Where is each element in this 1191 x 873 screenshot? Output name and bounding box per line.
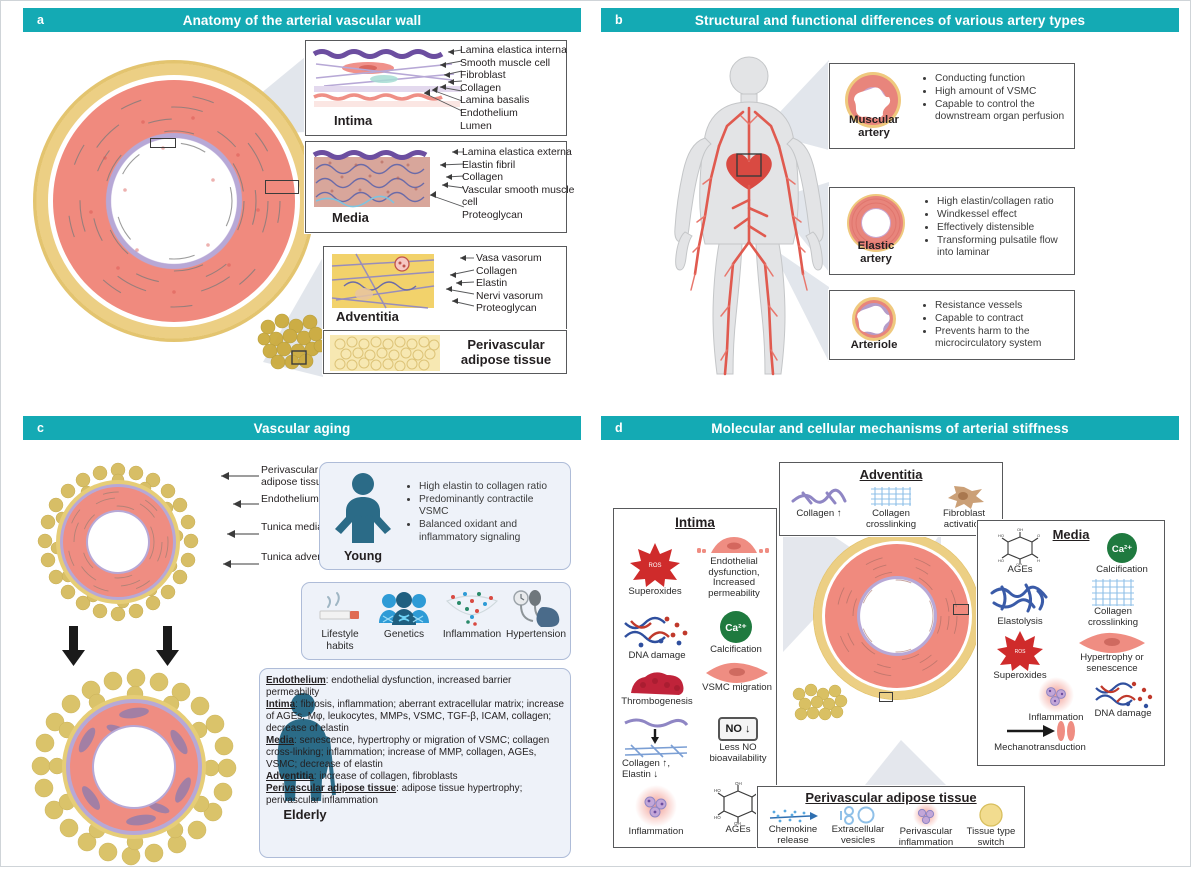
- pvat-title-line1: Perivascular: [450, 337, 562, 352]
- inflammation-icon: [1032, 677, 1080, 713]
- svg-text:Ca²⁺: Ca²⁺: [1112, 544, 1132, 555]
- adventitia-label-4: Proteoglycan: [476, 303, 543, 316]
- calcium-icon: Ca²⁺: [1105, 531, 1139, 565]
- elastic-artery-bullets: High elastin/collagen ratio Windkessel e…: [924, 196, 1072, 260]
- young-bullet-1: Predominantly contractile VSMC: [419, 494, 562, 519]
- d-intima-no: NO ↓ Less NO bioavailability: [700, 717, 776, 764]
- ros-burst-icon: ROS: [630, 541, 680, 587]
- d-pvat-cap-3-l1: Tissue type: [960, 827, 1022, 838]
- factor-hypertension-label: Hypertension: [504, 629, 568, 641]
- aging-arrows: [41, 626, 211, 670]
- panel-c-body: Perivascular adipose tissue Endothelium …: [23, 440, 581, 859]
- elastin-fibers: [33, 60, 315, 342]
- elastic-artery-name-line1: Elastic: [830, 240, 922, 253]
- factor-genetics: Genetics: [372, 589, 436, 641]
- elderly-entry-1: Intima: fibrosis, inflammation; aberrant…: [266, 699, 566, 735]
- dna-damage-icon: [621, 613, 693, 651]
- d-media-superoxides: ROS Superoxides: [980, 629, 1060, 682]
- svg-text:HO: HO: [998, 533, 1004, 538]
- adventitia-illustration: [330, 252, 436, 310]
- svg-text:HO: HO: [714, 815, 721, 820]
- blood-pressure-cuff-icon: [507, 589, 565, 629]
- adventitia-label-3: Nervi vasorum: [476, 291, 543, 304]
- d-media-cap-5: Hypertrophy or senescence: [1066, 653, 1158, 674]
- d-media-crosslinking: Collagen crosslinking: [1070, 577, 1156, 628]
- d-pvat-cap-1-l1: Extracellular: [826, 825, 890, 836]
- d-media-dna: DNA damage: [1082, 679, 1164, 720]
- panel-d-title: Molecular and cellular mechanisms of art…: [601, 421, 1179, 436]
- elderly-entry-3: Adventitia: increase of collagen, fibrob…: [266, 771, 566, 783]
- media-zoom-marker: [265, 180, 299, 194]
- elastic-bullet-3: Transforming pulsatile flow into laminar: [937, 235, 1072, 260]
- panel-b-letter: b: [615, 13, 623, 27]
- young-info-box: Young High elastin to collagen ratio Pre…: [319, 462, 571, 570]
- svg-text:OH: OH: [735, 781, 742, 786]
- adventitia-label-1: Collagen: [476, 266, 543, 279]
- elderly-info-box: Elderly Endothelium: endothelial dysfunc…: [259, 668, 571, 858]
- inflammation-dots-icon: [441, 589, 503, 629]
- elderly-term-4: Perivascular adipose tissue: [266, 783, 396, 794]
- intima-box-title: Intima: [334, 113, 372, 128]
- no-down-icon: NO ↓: [718, 717, 758, 741]
- intima-label-6: Lumen: [460, 121, 567, 134]
- svg-text:ROS: ROS: [1015, 649, 1027, 655]
- adventitia-leader-lines: [434, 253, 474, 323]
- elderly-artery-ring: [31, 668, 241, 868]
- pvat-mechanisms-box: Perivascular adipose tissue Chemokine re…: [757, 786, 1025, 848]
- ros-burst-icon: ROS: [997, 629, 1043, 671]
- d-intima-collagen-elastin: Collagen ↑, Elastin ↓: [614, 715, 698, 780]
- panel-c-letter: c: [37, 421, 44, 435]
- factor-inflammation-label: Inflammation: [438, 629, 506, 641]
- young-artery-svg: [37, 462, 199, 624]
- muscular-bullet-2: Capable to control the downstream organ …: [935, 99, 1070, 124]
- vsmc-icon: [704, 661, 770, 683]
- panel-d: d Molecular and cellular mechanisms of a…: [601, 416, 1179, 859]
- intima-label-3: Collagen: [460, 83, 567, 96]
- d-adventitia-title: Adventitia: [780, 467, 1002, 482]
- d-pvat-chemokine: Chemokine release: [762, 807, 824, 846]
- d-intima-cap-4: Thrombogenesis: [614, 697, 700, 708]
- panel-b-header: b Structural and functional differences …: [601, 8, 1179, 32]
- d-media-hypertrophy: Hypertrophy or senescence: [1066, 631, 1158, 674]
- arteriole-bullet-1: Capable to contract: [935, 313, 1070, 325]
- d-intima-cap-7: Less NO bioavailability: [700, 743, 776, 764]
- svg-text:O: O: [1037, 533, 1040, 538]
- young-artery-ring: [37, 462, 199, 624]
- figure-root: a Anatomy of the arterial vascular wall: [0, 0, 1191, 867]
- d-pvat-inflammation: Perivascular inflammation: [892, 803, 960, 848]
- factor-hypertension: Hypertension: [504, 589, 568, 641]
- panel-d-body: Intima ROS Superoxides: [601, 440, 1179, 859]
- elderly-text-1: fibrosis, inflammation; aberrant extrace…: [266, 699, 564, 734]
- d-media-calcification: Ca²⁺ Calcification: [1082, 531, 1162, 576]
- fibroblast-icon: [939, 483, 989, 509]
- adventitia-callout-box: Adventitia Vasa vasorum Collagen Elastin: [323, 246, 567, 330]
- adventitia-box-title: Adventitia: [336, 309, 399, 324]
- panel-a-header: a Anatomy of the arterial vascular wall: [23, 8, 581, 32]
- inflammation-icon: [904, 803, 948, 827]
- d-pvat-cap-0-l1: Chemokine: [762, 825, 824, 836]
- adventitia-label-0: Vasa vasorum: [476, 253, 543, 266]
- media-box-title: Media: [332, 210, 369, 225]
- young-bullet-0: High elastin to collagen ratio: [419, 481, 562, 493]
- elastic-bullet-0: High elastin/collagen ratio: [937, 196, 1072, 208]
- muscular-bullet-1: High amount of VSMC: [935, 86, 1070, 98]
- factor-inflammation: Inflammation: [438, 589, 506, 641]
- d-media-cap-0: AGEs: [982, 565, 1058, 576]
- collagen-mesh-icon: [1088, 577, 1138, 607]
- media-label-0: Lamina elastica externa: [462, 147, 574, 160]
- elastic-bullet-1: Windkessel effect: [937, 209, 1072, 221]
- panel-d-letter: d: [615, 421, 623, 435]
- intima-label-0: Lamina elastica interna: [460, 45, 567, 58]
- d-media-mechano: Mechanotransduction: [978, 719, 1102, 754]
- intima-label-2: Fibroblast: [460, 70, 567, 83]
- human-body-arterial-tree: [649, 50, 849, 380]
- elderly-artery-svg: [31, 668, 241, 868]
- no-down-badge: NO ↓: [725, 723, 750, 735]
- elastic-artery-name-line2: artery: [830, 253, 922, 266]
- panel-d-header: d Molecular and cellular mechanisms of a…: [601, 416, 1179, 440]
- elderly-term-3: Adventitia: [266, 771, 314, 782]
- d-intima-cap-0: Superoxides: [618, 587, 692, 598]
- thrombus-icon: [625, 669, 689, 697]
- d-intima-title: Intima: [614, 515, 776, 530]
- d-media-cap-2: Elastolysis: [980, 617, 1060, 628]
- intima-label-5: Endothelium: [460, 108, 567, 121]
- arteriole-box: Arteriole Resistance vessels Capable to …: [829, 290, 1075, 360]
- elderly-text-3: increase of collagen, fibroblasts: [319, 771, 457, 782]
- media-label-3: Vascular smooth muscle: [462, 185, 574, 198]
- d-intima-cap-3: Calcification: [698, 645, 774, 656]
- d-pvat-vesicles: Extracellular vesicles: [826, 805, 890, 846]
- media-label-5: Proteoglycan: [462, 210, 574, 223]
- muscular-bullet-0: Conducting function: [935, 73, 1070, 85]
- elastic-artery-box: Elastic artery High elastin/collagen rat…: [829, 187, 1075, 275]
- elderly-entries: Endothelium: endothelial dysfunction, in…: [266, 675, 566, 807]
- young-label: Young: [326, 549, 400, 563]
- d-adv-crosslinking: Collagen crosslinking: [856, 485, 926, 530]
- d-pvat-zoom-marker: [879, 692, 893, 702]
- muscular-artery-bullets: Conducting function High amount of VSMC …: [922, 73, 1070, 124]
- panel-b-title: Structural and functional differences of…: [601, 13, 1179, 28]
- d-intima-dna: DNA damage: [616, 613, 698, 662]
- panel-b: b Structural and functional differences …: [601, 8, 1179, 402]
- panel-a-letter: a: [37, 13, 44, 27]
- d-adv-cap-0: Collagen ↑: [784, 509, 854, 520]
- pvat-box-title: Perivascular adipose tissue: [450, 337, 562, 367]
- d-pvat-cap-2-l2: inflammation: [892, 838, 960, 849]
- arteriole-bullet-0: Resistance vessels: [935, 300, 1070, 312]
- elastic-bullet-2: Effectively distensible: [937, 222, 1072, 234]
- svg-text:Ca²⁺: Ca²⁺: [725, 623, 746, 634]
- adventitia-label-2: Elastin: [476, 278, 543, 291]
- elderly-term-2: Media: [266, 735, 294, 746]
- people-dna-icon: [375, 589, 433, 629]
- chemokine-icon: [766, 807, 820, 825]
- panel-b-body: Muscular artery Conducting function High…: [601, 32, 1179, 402]
- panel-a-body: Intima Lamina elastica interna: [23, 32, 581, 402]
- svg-text:ROS: ROS: [648, 563, 661, 569]
- d-intima-cap-5: VSMC migration: [698, 683, 776, 694]
- d-pvat-cap-3-l2: switch: [960, 838, 1022, 849]
- svg-text:HO: HO: [714, 788, 721, 793]
- panel-a: a Anatomy of the arterial vascular wall: [23, 8, 581, 402]
- adventitia-mechanisms-box: Adventitia Collagen ↑: [779, 462, 1003, 536]
- elderly-text-2: senescence, hypertrophy or migration of …: [266, 735, 549, 770]
- elastic-artery-name: Elastic artery: [830, 240, 922, 266]
- adventitia-labels: Vasa vasorum Collagen Elastin Nervi vaso…: [476, 253, 543, 316]
- muscular-artery-name-line2: artery: [830, 127, 918, 140]
- arteriole-name-line1: Arteriole: [830, 339, 918, 352]
- d-media-cap-1: Calcification: [1082, 565, 1162, 576]
- d-intima-inflammation: Inflammation: [614, 785, 698, 838]
- media-leader-lines: [420, 147, 464, 227]
- collagen-fiber-icon: [789, 487, 849, 509]
- d-adv-collagen: Collagen ↑: [784, 487, 854, 520]
- calcium-icon: Ca²⁺: [718, 609, 754, 645]
- factor-lifestyle-label: Lifestyle habits: [308, 629, 372, 652]
- d-intima-vsmc: VSMC migration: [698, 661, 776, 694]
- arteriole-name: Arteriole: [830, 339, 918, 352]
- panel-c-header: c Vascular aging: [23, 416, 581, 440]
- d-pvat-cap-2-l1: Perivascular: [892, 827, 960, 838]
- inflammation-icon: [629, 785, 683, 827]
- d-media-zoom-marker: [953, 604, 969, 615]
- collagen-mesh-icon: [867, 485, 915, 509]
- d-media-ages: OHOH OHHOHO AGEs: [982, 527, 1058, 576]
- dna-damage-icon: [1092, 679, 1154, 709]
- aging-factors-box: Lifestyle habits: [301, 582, 571, 660]
- media-illustration: [312, 147, 432, 209]
- vesicles-icon: [836, 805, 880, 825]
- elderly-entry-0: Endothelium: endothelial dysfunction, in…: [266, 675, 566, 699]
- young-person-icon: [332, 471, 394, 543]
- d-media-cap-8: Mechanotransduction: [978, 743, 1102, 754]
- elderly-term-0: Endothelium: [266, 675, 326, 686]
- d-media-elastolysis: Elastolysis: [980, 581, 1060, 628]
- ages-molecule-icon: OHOH OHHOHO: [714, 781, 762, 825]
- pvat-title-line2: adipose tissue: [450, 352, 562, 367]
- intima-leader-lines: [418, 45, 462, 133]
- d-media-cap-7: DNA damage: [1082, 709, 1164, 720]
- d-intima-endothelial: Endothelial dysfunction, Increased perme…: [692, 533, 776, 599]
- arteriole-bullets: Resistance vessels Capable to contract P…: [922, 300, 1070, 351]
- endothelial-cell-icon: [695, 533, 773, 557]
- pvat-illustration: [330, 335, 440, 371]
- media-callout-box: Media Lamina elastica externa Elastin fi…: [305, 141, 567, 233]
- ages-molecule-icon: OHOH OHHOHO: [998, 527, 1042, 565]
- factor-lifestyle: Lifestyle habits: [308, 589, 372, 652]
- d-intima-calcification: Ca²⁺ Calcification: [698, 609, 774, 656]
- factor-genetics-label: Genetics: [372, 629, 436, 641]
- d-intima-cap-1: Endothelial dysfunction, Increased perme…: [697, 557, 771, 599]
- mechano-arrow-icon: [997, 719, 1083, 743]
- svg-text:OH: OH: [1017, 527, 1023, 532]
- d-pvat-cap-1-l2: vesicles: [826, 836, 890, 847]
- intima-label-4: Lamina basalis: [460, 95, 567, 108]
- d-pvat-cap-0-l2: release: [762, 836, 824, 847]
- panel-c-title: Vascular aging: [23, 421, 581, 436]
- media-labels: Lamina elastica externa Elastin fibril C…: [462, 147, 574, 223]
- collagen-elastin-icon: [621, 715, 691, 759]
- arteriole-ring-icon: [844, 295, 904, 343]
- pvat-callout-box: Perivascular adipose tissue: [323, 330, 567, 374]
- d-intima-cap-6: Collagen ↑, Elastin ↓: [614, 759, 698, 780]
- intima-label-1: Smooth muscle cell: [460, 58, 567, 71]
- elderly-entry-2: Media: senescence, hypertrophy or migrat…: [266, 735, 566, 771]
- stiff-artery-cross-section: [813, 532, 981, 700]
- d-adv-cap-1: Collagen crosslinking: [856, 509, 926, 530]
- d-intima-thrombogenesis: Thrombogenesis: [614, 669, 700, 708]
- svg-text:H: H: [1037, 558, 1040, 563]
- artery-cross-section: [33, 60, 315, 342]
- elastolysis-icon: [988, 581, 1052, 617]
- cigarette-icon: [316, 589, 364, 629]
- adipocyte-icon: [974, 803, 1008, 827]
- media-mechanisms-box: Media OHOH OHHOHO AGEs: [977, 520, 1165, 766]
- muscular-artery-box: Muscular artery Conducting function High…: [829, 63, 1075, 149]
- intima-callout-box: Intima Lamina elastica interna: [305, 40, 567, 136]
- d-intima-cap-2: DNA damage: [616, 651, 698, 662]
- young-bullets: High elastin to collagen ratio Predomina…: [406, 481, 562, 545]
- media-label-1: Elastin fibril: [462, 160, 574, 173]
- d-media-cap-3: Collagen crosslinking: [1070, 607, 1156, 628]
- elderly-entry-4: Perivascular adipose tissue: adipose tis…: [266, 783, 566, 807]
- d-pvat-tissue-switch: Tissue type switch: [960, 803, 1022, 848]
- intima-labels: Lamina elastica interna Smooth muscle ce…: [460, 45, 567, 133]
- d-elastin-fibers: [813, 532, 981, 700]
- muscular-artery-name: Muscular artery: [830, 114, 918, 140]
- d-intima-superoxides: ROS Superoxides: [618, 541, 692, 598]
- elderly-term-1: Intima: [266, 699, 295, 710]
- d-pvat-clump: [789, 680, 859, 730]
- d-intima-cap-8: Inflammation: [614, 827, 698, 838]
- elderly-label: Elderly: [264, 807, 346, 822]
- young-bullet-2: Balanced oxidant and inflammatory signal…: [419, 519, 562, 544]
- intima-mechanisms-box: Intima ROS Superoxides: [613, 508, 777, 848]
- panel-a-title: Anatomy of the arterial vascular wall: [23, 13, 581, 28]
- arteriole-bullet-2: Prevents harm to the microcirculatory sy…: [935, 326, 1070, 351]
- panel-c: c Vascular aging: [23, 416, 581, 859]
- svg-text:HO: HO: [998, 558, 1004, 563]
- media-label-2: Collagen: [462, 172, 574, 185]
- muscular-artery-name-line1: Muscular: [830, 114, 918, 127]
- media-label-4: cell: [462, 197, 574, 210]
- intima-zoom-marker: [150, 138, 176, 148]
- vsmc-icon: [1077, 631, 1147, 653]
